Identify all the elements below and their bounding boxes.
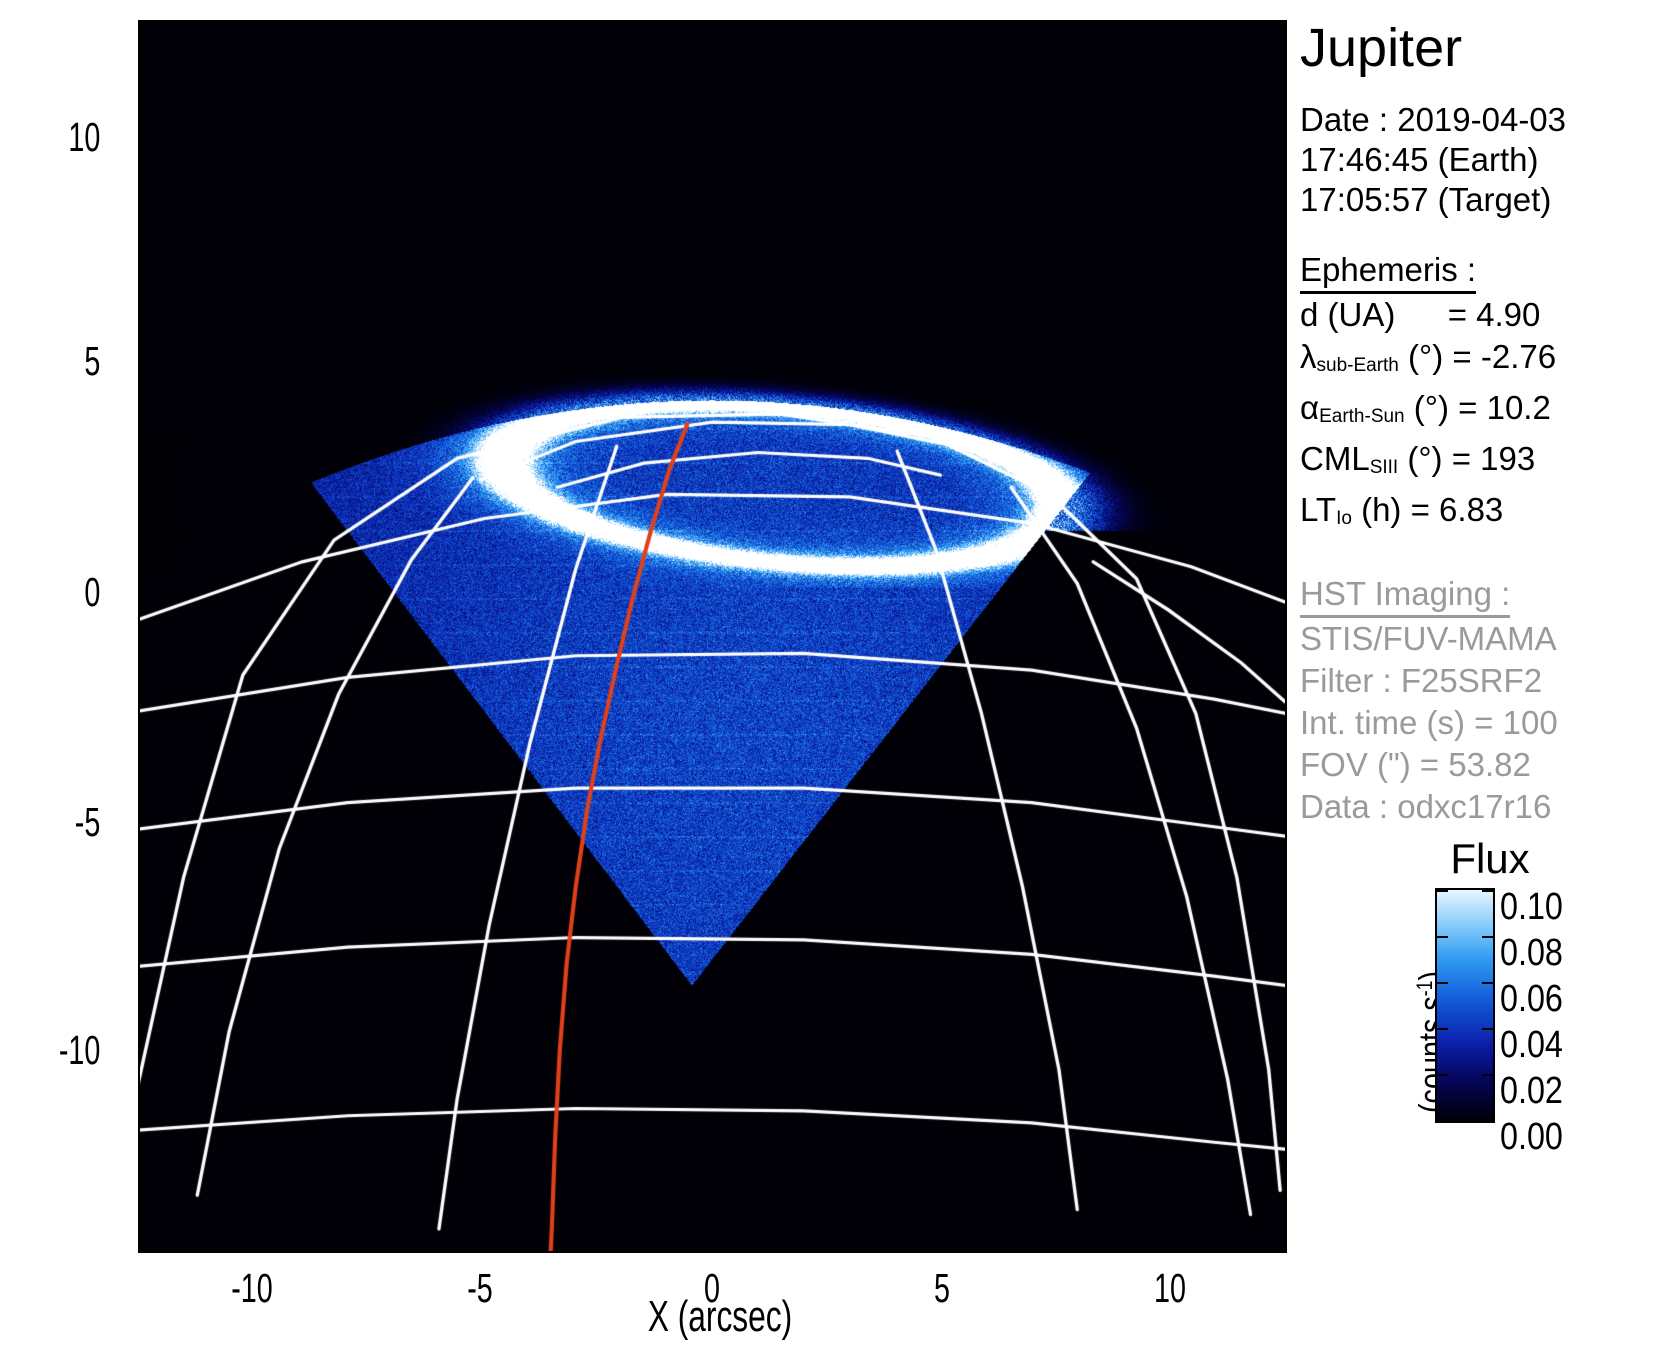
colorbar: Flux (counts.s-1) 0.10 0.08 0.06 0.04 0.… bbox=[1300, 836, 1676, 1236]
sky-plot-area bbox=[138, 20, 1287, 1253]
date-block: Date : 2019-04-03 17:46:45 (Earth) 17:05… bbox=[1300, 100, 1676, 220]
ephemeris-unit-cml: (°) bbox=[1407, 440, 1442, 477]
ephemeris-heading: Ephemeris : bbox=[1300, 250, 1476, 294]
y-tick-label: -5 bbox=[18, 802, 101, 843]
hst-heading: HST Imaging : bbox=[1300, 574, 1510, 618]
hst-instrument: STIS/FUV-MAMA bbox=[1300, 618, 1676, 660]
jupiter-fuv-image bbox=[138, 20, 1287, 1253]
ephemeris-value-alpha: = 10.2 bbox=[1458, 389, 1551, 426]
colorbar-tick-label: 0.10 bbox=[1500, 888, 1563, 926]
colorbar-tick-label: 0.04 bbox=[1500, 1026, 1563, 1064]
y-axis-title: Y (arcsec) bbox=[133, 390, 183, 620]
ephemeris-value-lt: = 6.83 bbox=[1411, 491, 1504, 528]
colorbar-gradient bbox=[1435, 888, 1495, 1123]
hst-filter: Filter : F25SRF2 bbox=[1300, 660, 1676, 702]
y-tick-label: 0 bbox=[18, 572, 101, 613]
ephemeris-sub-lt: Io bbox=[1336, 508, 1352, 529]
ephemeris-label-cml: CML bbox=[1300, 440, 1370, 477]
colorbar-tick-label: 0.06 bbox=[1500, 980, 1563, 1018]
ephemeris-unit-lt: (h) bbox=[1361, 491, 1401, 528]
colorbar-axis-label-exponent: -1 bbox=[1412, 981, 1437, 997]
y-tick-label: 10 bbox=[18, 117, 101, 158]
ephemeris-row-cml: CMLSIII (°) = 193 bbox=[1300, 438, 1676, 489]
ephemeris-sub-lambda: sub-Earth bbox=[1317, 355, 1399, 376]
date-line-earth: 17:46:45 (Earth) bbox=[1300, 140, 1676, 180]
hst-fov: FOV (") = 53.82 bbox=[1300, 744, 1676, 786]
y-tick-label: 5 bbox=[18, 341, 101, 382]
ephemeris-block: Ephemeris : d (UA) = 4.90 λsub-Earth (°)… bbox=[1300, 250, 1676, 540]
ephemeris-row-lt: LTIo (h) = 6.83 bbox=[1300, 489, 1676, 540]
colorbar-tick-label: 0.02 bbox=[1500, 1072, 1563, 1110]
ephemeris-label-alpha: α bbox=[1300, 389, 1319, 426]
y-tick-label: -10 bbox=[18, 1030, 101, 1071]
ephemeris-label-lambda: λ bbox=[1300, 338, 1317, 375]
ephemeris-sub-cml: SIII bbox=[1370, 457, 1399, 478]
ephemeris-row-d: d (UA) = 4.90 bbox=[1300, 294, 1676, 336]
x-tick-label: -10 bbox=[196, 1268, 308, 1309]
info-panel: Jupiter Date : 2019-04-03 17:46:45 (Eart… bbox=[1300, 0, 1676, 800]
colorbar-title: Flux bbox=[1400, 836, 1580, 882]
ephemeris-unit-lambda: (°) bbox=[1408, 338, 1443, 375]
ephemeris-value-lambda: = -2.76 bbox=[1452, 338, 1556, 375]
ephemeris-row-alpha: αEarth-Sun (°) = 10.2 bbox=[1300, 387, 1676, 438]
ephemeris-value-d: = 4.90 bbox=[1448, 296, 1541, 333]
ephemeris-value-cml: = 193 bbox=[1452, 440, 1536, 477]
ephemeris-label-lt: LT bbox=[1300, 491, 1336, 528]
hst-data-id: Data : odxc17r16 bbox=[1300, 786, 1676, 828]
colorbar-tick-label: 0.00 bbox=[1500, 1118, 1563, 1156]
hst-int-time: Int. time (s) = 100 bbox=[1300, 702, 1676, 744]
ephemeris-label-d: d (UA) bbox=[1300, 296, 1395, 333]
date-line-target: 17:05:57 (Target) bbox=[1300, 180, 1676, 220]
x-axis-title: X (arcsec) bbox=[605, 1292, 835, 1342]
ephemeris-unit-alpha: (°) bbox=[1414, 389, 1449, 426]
x-tick-label: -5 bbox=[424, 1268, 536, 1309]
x-tick-label: 5 bbox=[886, 1268, 998, 1309]
ephemeris-sub-alpha: Earth-Sun bbox=[1319, 406, 1405, 427]
ephemeris-row-lambda: λsub-Earth (°) = -2.76 bbox=[1300, 336, 1676, 387]
page-title: Jupiter bbox=[1300, 18, 1676, 78]
hst-imaging-block: HST Imaging : STIS/FUV-MAMA Filter : F25… bbox=[1300, 574, 1676, 828]
date-line-utc: Date : 2019-04-03 bbox=[1300, 100, 1676, 140]
colorbar-tick-label: 0.08 bbox=[1500, 934, 1563, 972]
x-tick-label: 10 bbox=[1114, 1268, 1226, 1309]
